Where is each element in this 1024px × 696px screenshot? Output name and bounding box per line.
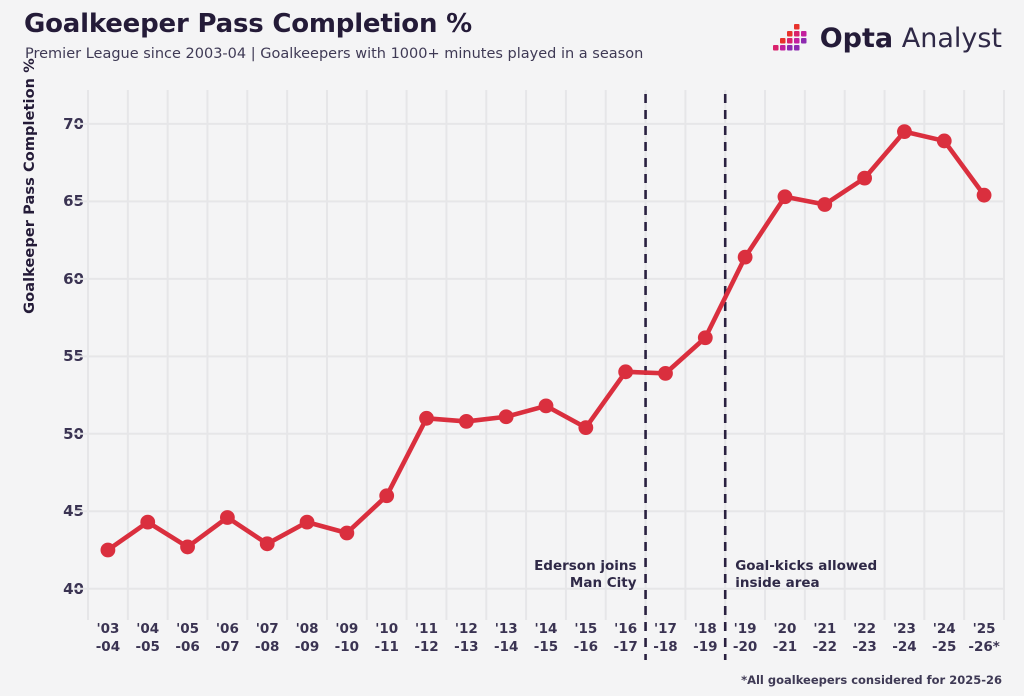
data-point-marker bbox=[260, 536, 275, 551]
data-point-marker bbox=[738, 250, 753, 265]
x-tick-label-top: '25 bbox=[956, 620, 1012, 638]
data-point-marker bbox=[857, 171, 872, 186]
data-point-marker bbox=[778, 189, 793, 204]
x-tick-label: '25-26* bbox=[956, 620, 1012, 656]
data-point-marker bbox=[379, 488, 394, 503]
data-point-marker bbox=[658, 366, 673, 381]
data-point-marker bbox=[897, 124, 912, 139]
data-point-marker bbox=[300, 515, 315, 530]
data-point-marker bbox=[459, 414, 474, 429]
annotation-goalkicks: Goal-kicks allowedinside area bbox=[735, 558, 965, 592]
data-point-marker bbox=[220, 510, 235, 525]
data-point-marker bbox=[419, 411, 434, 426]
chart-plot-area: Goalkeeper Pass Completion % 40455055606… bbox=[0, 0, 1024, 696]
series-line bbox=[108, 132, 984, 550]
data-point-marker bbox=[140, 515, 155, 530]
data-point-marker bbox=[539, 399, 554, 414]
annotation-ederson: Ederson joinsMan City bbox=[432, 558, 637, 592]
data-point-marker bbox=[937, 134, 952, 149]
data-point-marker bbox=[578, 420, 593, 435]
data-point-marker bbox=[698, 330, 713, 345]
data-point-marker bbox=[977, 188, 992, 203]
chart-footnote: *All goalkeepers considered for 2025-26 bbox=[741, 673, 1002, 687]
data-point-marker bbox=[180, 540, 195, 555]
data-point-marker bbox=[339, 526, 354, 541]
data-point-marker bbox=[101, 543, 116, 558]
annotation-line-2: inside area bbox=[735, 575, 965, 592]
data-point-marker bbox=[618, 364, 633, 379]
annotation-line-1: Goal-kicks allowed bbox=[735, 558, 965, 575]
series-markers bbox=[101, 124, 992, 557]
x-tick-label-bottom: -26* bbox=[956, 638, 1012, 656]
data-point-marker bbox=[499, 409, 514, 424]
annotation-line-2: Man City bbox=[432, 575, 637, 592]
annotation-line-1: Ederson joins bbox=[432, 558, 637, 575]
gridlines bbox=[74, 90, 1004, 620]
data-point-marker bbox=[817, 197, 832, 212]
